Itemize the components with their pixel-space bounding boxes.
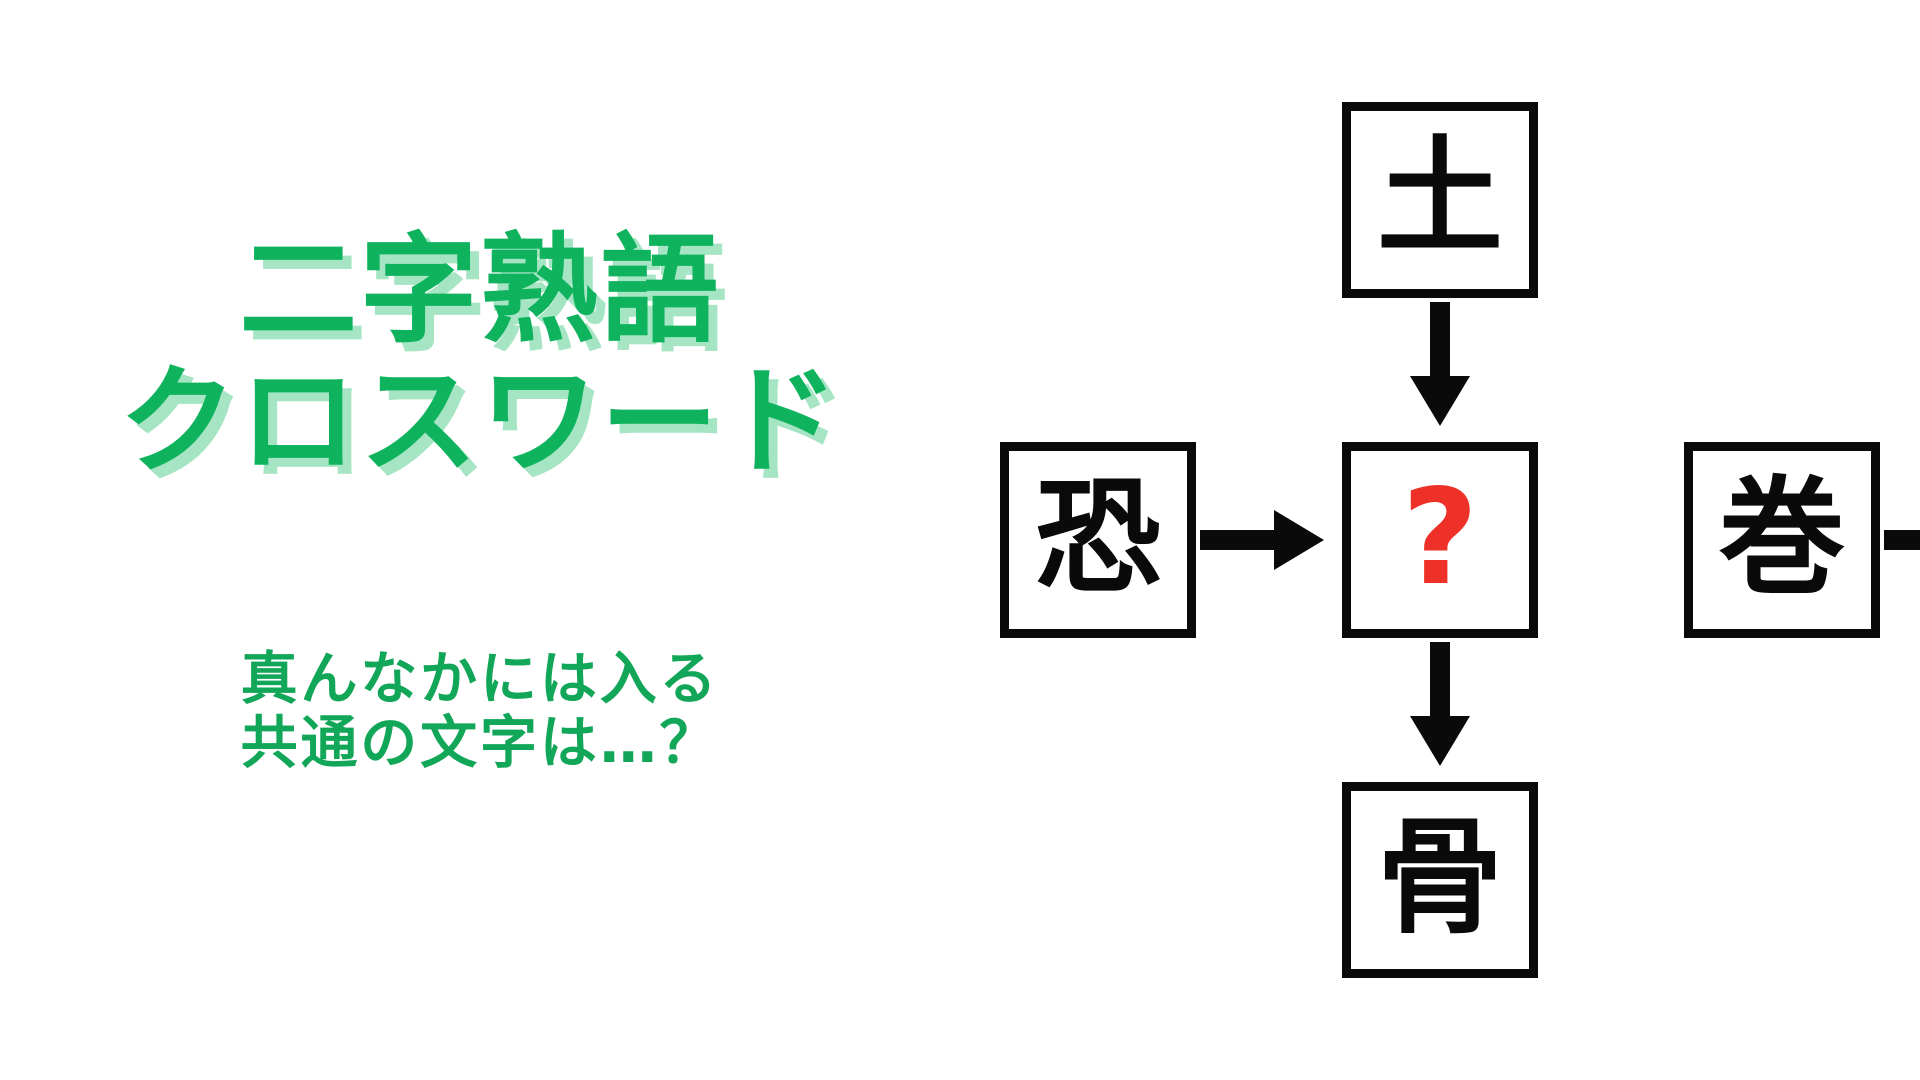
kanji-top: 土 xyxy=(1377,135,1503,261)
puzzle-cell-bottom: 骨 xyxy=(1342,782,1538,978)
kanji-crossword-diagram: 土 恐 ? xyxy=(1000,90,1880,990)
subtitle: 真んなかには入る 共通の文字は…？ xyxy=(0,648,960,776)
title-pane: 二字熟語 クロスワード 真んなかには入る 共通の文字は…？ xyxy=(0,0,960,1080)
arrow-right-icon xyxy=(1200,508,1328,572)
arrow-down-icon xyxy=(1408,302,1472,430)
kanji-right: 巻 xyxy=(1719,475,1845,601)
title-line-2: クロスワード xyxy=(0,359,960,484)
subtitle-line-2: 共通の文字は…？ xyxy=(0,712,960,776)
subtitle-line-1: 真んなかには入る xyxy=(0,648,960,712)
puzzle-pane: 土 恐 ? xyxy=(960,0,1920,1080)
page-title: 二字熟語 クロスワード xyxy=(0,228,960,484)
arrow-right-icon xyxy=(1884,508,1920,572)
arrow-down-icon xyxy=(1408,642,1472,770)
kanji-bottom: 骨 xyxy=(1377,815,1503,941)
kanji-left: 恐 xyxy=(1035,475,1161,601)
puzzle-cell-right: 巻 xyxy=(1684,442,1880,638)
answer-question-mark: ? xyxy=(1402,472,1479,604)
puzzle-cell-left: 恐 xyxy=(1000,442,1196,638)
puzzle-cell-center-answer[interactable]: ? xyxy=(1342,442,1538,638)
title-line-1: 二字熟語 xyxy=(0,228,960,353)
slide-canvas: 二字熟語 クロスワード 真んなかには入る 共通の文字は…？ 土 恐 xyxy=(0,0,1920,1080)
puzzle-cell-top: 土 xyxy=(1342,102,1538,298)
